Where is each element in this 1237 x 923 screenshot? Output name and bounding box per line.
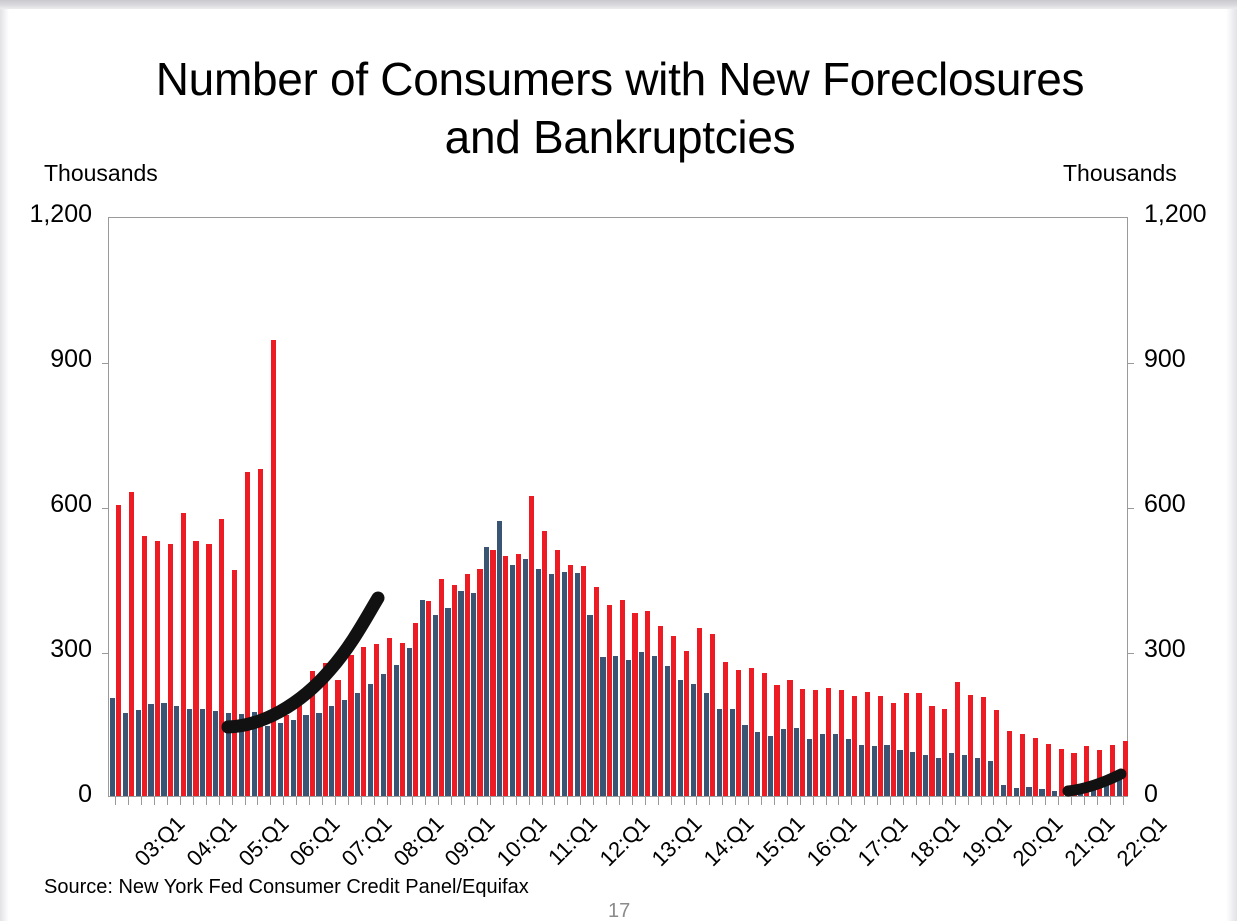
bar-group[interactable] <box>638 218 651 796</box>
bar-bankruptcies <box>774 685 779 796</box>
bar-group[interactable] <box>587 218 600 796</box>
x-axis-tick <box>671 796 672 805</box>
bar-foreclosures <box>665 666 670 796</box>
x-axis-tick <box>554 796 555 805</box>
bar-bankruptcies <box>1123 741 1128 796</box>
bar-foreclosures <box>433 615 438 796</box>
bar-foreclosures <box>252 712 257 796</box>
x-axis-label: 20:Q1 <box>1008 811 1069 872</box>
bar-foreclosures <box>484 547 489 796</box>
chart-title-line2: and Bankruptcies <box>60 108 1180 166</box>
bar-group[interactable] <box>238 218 251 796</box>
bar-group[interactable] <box>561 218 574 796</box>
x-axis-tick <box>219 796 220 805</box>
bar-group[interactable] <box>1064 218 1077 796</box>
bar-foreclosures <box>445 608 450 797</box>
slide-right-edge <box>1226 9 1237 921</box>
bar-bankruptcies <box>452 585 457 796</box>
bar-bankruptcies <box>1007 731 1012 796</box>
bar-bankruptcies <box>232 570 237 796</box>
x-axis-tick <box>387 796 388 805</box>
bar-group[interactable] <box>729 218 742 796</box>
x-axis-tick <box>942 796 943 805</box>
bar-bankruptcies <box>374 644 379 796</box>
bar-group[interactable] <box>509 218 522 796</box>
bar-foreclosures <box>794 728 799 796</box>
bar-bankruptcies <box>310 671 315 796</box>
x-axis-label: 03:Q1 <box>130 811 191 872</box>
bar-foreclosures <box>471 593 476 796</box>
y-axis-tick-left <box>102 508 109 509</box>
bar-bankruptcies <box>1071 753 1076 797</box>
bar-group[interactable] <box>690 218 703 796</box>
bar-group[interactable] <box>1039 218 1052 796</box>
x-axis-tick <box>800 796 801 805</box>
x-axis-tick <box>1058 796 1059 805</box>
x-axis-tick <box>296 796 297 805</box>
bar-group[interactable] <box>716 218 729 796</box>
bar-bankruptcies <box>1097 750 1102 796</box>
y-axis-tick-right <box>1127 363 1134 364</box>
bar-group[interactable] <box>767 218 780 796</box>
bar-bankruptcies <box>323 663 328 796</box>
bar-group[interactable] <box>135 218 148 796</box>
bar-group[interactable] <box>380 218 393 796</box>
x-axis-label: 14:Q1 <box>698 811 759 872</box>
x-axis-tick <box>115 796 116 805</box>
bar-bankruptcies <box>284 715 289 796</box>
bar-group[interactable] <box>974 218 987 796</box>
bar-bankruptcies <box>697 628 702 796</box>
x-axis-label: 04:Q1 <box>182 811 243 872</box>
bar-foreclosures <box>846 739 851 796</box>
x-axis-tick <box>322 796 323 805</box>
bar-bankruptcies <box>168 544 173 796</box>
x-axis-label: 09:Q1 <box>440 811 501 872</box>
x-axis-tick <box>632 796 633 805</box>
x-axis-tick <box>516 796 517 805</box>
bar-group[interactable] <box>832 218 845 796</box>
x-axis-tick <box>335 796 336 805</box>
bar-foreclosures <box>600 657 605 796</box>
bar-bankruptcies <box>594 587 599 796</box>
x-axis-label: 08:Q1 <box>388 811 449 872</box>
bar-bankruptcies <box>620 600 625 796</box>
bar-bankruptcies <box>762 673 767 796</box>
bar-group[interactable] <box>406 218 419 796</box>
bar-foreclosures <box>575 573 580 796</box>
bar-bankruptcies <box>490 550 495 797</box>
bar-group[interactable] <box>1052 218 1065 796</box>
bar-bankruptcies <box>878 696 883 796</box>
x-axis-tick <box>761 796 762 805</box>
bar-group[interactable] <box>419 218 432 796</box>
bar-foreclosures <box>536 569 541 796</box>
bar-bankruptcies <box>994 710 999 796</box>
bar-foreclosures <box>381 674 386 796</box>
bar-group[interactable] <box>483 218 496 796</box>
bar-foreclosures <box>355 693 360 796</box>
bar-foreclosures <box>626 660 631 796</box>
bar-group[interactable] <box>445 218 458 796</box>
bar-bankruptcies <box>297 696 302 796</box>
bar-group[interactable] <box>186 218 199 796</box>
bar-group[interactable] <box>1000 218 1013 796</box>
x-axis-tick <box>1019 796 1020 805</box>
bar-foreclosures <box>807 739 812 796</box>
bar-foreclosures <box>910 752 915 796</box>
x-axis-label: 16:Q1 <box>801 811 862 872</box>
bar-bankruptcies <box>219 519 224 796</box>
x-axis-tick <box>709 796 710 805</box>
bar-foreclosures <box>174 706 179 796</box>
bar-bankruptcies <box>116 505 121 796</box>
x-axis-tick <box>735 796 736 805</box>
bar-group[interactable] <box>664 218 677 796</box>
bar-foreclosures <box>768 736 773 796</box>
bar-group[interactable] <box>819 218 832 796</box>
x-axis-label: 12:Q1 <box>595 811 656 872</box>
bar-group[interactable] <box>290 218 303 796</box>
bar-group[interactable] <box>703 218 716 796</box>
bar-group[interactable] <box>161 218 174 796</box>
bar-group[interactable] <box>148 218 161 796</box>
bar-foreclosures <box>859 745 864 796</box>
x-axis-tick <box>1071 796 1072 805</box>
bar-group[interactable] <box>948 218 961 796</box>
x-axis-tick <box>684 796 685 805</box>
x-axis-tick <box>1045 796 1046 805</box>
bar-group[interactable] <box>264 218 277 796</box>
bar-foreclosures <box>1014 788 1019 796</box>
y-axis-label-left: 0 <box>78 780 92 809</box>
bar-group[interactable] <box>625 218 638 796</box>
x-axis-tick <box>283 796 284 805</box>
bar-foreclosures <box>975 758 980 796</box>
bar-bankruptcies <box>181 513 186 796</box>
y-axis-tick-left <box>102 653 109 654</box>
y-axis-label-left: 600 <box>50 490 92 519</box>
x-axis-tick <box>206 796 207 805</box>
bar-group[interactable] <box>651 218 664 796</box>
x-axis-tick <box>503 796 504 805</box>
bar-group[interactable] <box>432 218 445 796</box>
bar-bankruptcies <box>749 668 754 796</box>
bar-group[interactable] <box>600 218 613 796</box>
bar-foreclosures <box>278 723 283 796</box>
bar-foreclosures <box>652 656 657 796</box>
bar-bankruptcies <box>335 680 340 796</box>
x-axis-tick <box>955 796 956 805</box>
bar-bankruptcies <box>1020 734 1025 796</box>
bar-group[interactable] <box>458 218 471 796</box>
bar-group[interactable] <box>354 218 367 796</box>
bar-foreclosures <box>200 709 205 796</box>
bar-group[interactable] <box>277 218 290 796</box>
x-axis-label: 21:Q1 <box>1060 811 1121 872</box>
bar-group[interactable] <box>174 218 187 796</box>
x-axis-label: 17:Q1 <box>853 811 914 872</box>
x-axis-tick <box>696 796 697 805</box>
bar-group[interactable] <box>496 218 509 796</box>
bar-group[interactable] <box>884 218 897 796</box>
x-axis-label: 15:Q1 <box>750 811 811 872</box>
bar-group[interactable] <box>780 218 793 796</box>
bar-foreclosures <box>639 652 644 796</box>
bar-group[interactable] <box>535 218 548 796</box>
bar-bankruptcies <box>348 655 353 796</box>
x-axis-tick <box>180 796 181 805</box>
bar-group[interactable] <box>845 218 858 796</box>
x-axis-tick <box>490 796 491 805</box>
chart-title: Number of Consumers with New Foreclosure… <box>60 50 1180 166</box>
bar-bankruptcies <box>955 682 960 796</box>
bar-group[interactable] <box>806 218 819 796</box>
y-axis-tick-right <box>1127 508 1134 509</box>
chart-title-line1: Number of Consumers with New Foreclosure… <box>60 50 1180 108</box>
bar-bankruptcies <box>723 662 728 796</box>
bar-foreclosures <box>226 713 231 796</box>
x-axis-tick <box>232 796 233 805</box>
bar-bankruptcies <box>826 688 831 796</box>
y-axis-label-left: 300 <box>50 635 92 664</box>
bar-foreclosures <box>316 713 321 796</box>
bar-group[interactable] <box>858 218 871 796</box>
bar-foreclosures <box>936 758 941 796</box>
x-axis-tick <box>580 796 581 805</box>
bar-foreclosures <box>342 700 347 796</box>
x-axis-tick <box>193 796 194 805</box>
bar-foreclosures <box>717 709 722 796</box>
bar-bankruptcies <box>787 680 792 796</box>
bar-group[interactable] <box>1090 218 1103 796</box>
bar-foreclosures <box>394 665 399 796</box>
bar-bankruptcies <box>865 692 870 796</box>
bar-bankruptcies <box>658 626 663 796</box>
bar-foreclosures <box>742 725 747 796</box>
bar-group[interactable] <box>316 218 329 796</box>
bar-bankruptcies <box>542 531 547 796</box>
bar-group[interactable] <box>755 218 768 796</box>
bar-foreclosures <box>704 693 709 796</box>
bar-foreclosures <box>755 732 760 796</box>
x-axis-tick <box>270 796 271 805</box>
x-axis-tick <box>877 796 878 805</box>
bar-group[interactable] <box>1013 218 1026 796</box>
bar-group[interactable] <box>109 218 122 796</box>
bar-group[interactable] <box>1077 218 1090 796</box>
x-axis-tick <box>167 796 168 805</box>
x-axis-tick <box>1084 796 1085 805</box>
bar-group[interactable] <box>793 218 806 796</box>
bar-group[interactable] <box>742 218 755 796</box>
bar-bankruptcies <box>981 697 986 796</box>
bar-group[interactable] <box>987 218 1000 796</box>
x-axis-tick <box>1006 796 1007 805</box>
bar-bankruptcies <box>400 643 405 796</box>
x-axis-tick <box>968 796 969 805</box>
x-axis-label: 22:Q1 <box>1111 811 1172 872</box>
plot-area <box>108 217 1128 797</box>
bar-foreclosures <box>213 711 218 796</box>
bar-bankruptcies <box>904 693 909 796</box>
bar-foreclosures <box>1052 791 1057 796</box>
bar-bankruptcies <box>258 469 263 796</box>
bar-bankruptcies <box>245 472 250 796</box>
bar-group[interactable] <box>393 218 406 796</box>
bar-foreclosures <box>1117 779 1122 796</box>
bar-foreclosures <box>897 750 902 796</box>
bar-foreclosures <box>329 706 334 796</box>
y-axis-label-right: 0 <box>1144 780 1158 809</box>
bar-group[interactable] <box>613 218 626 796</box>
x-axis-tick <box>748 796 749 805</box>
y-axis-tick-right <box>1127 653 1134 654</box>
x-axis-label: 13:Q1 <box>646 811 707 872</box>
bar-bankruptcies <box>129 492 134 796</box>
bar-foreclosures <box>872 746 877 796</box>
x-axis-tick <box>864 796 865 805</box>
x-axis-label: 19:Q1 <box>956 811 1017 872</box>
bar-series-container <box>109 218 1127 796</box>
bar-foreclosures <box>1065 791 1070 796</box>
y-axis-label-right: 1,200 <box>1144 200 1207 229</box>
x-axis-label: 10:Q1 <box>492 811 553 872</box>
bar-group[interactable] <box>574 218 587 796</box>
bar-foreclosures <box>458 591 463 796</box>
x-axis-tick <box>1123 796 1124 805</box>
bar-bankruptcies <box>142 536 147 796</box>
bar-group[interactable] <box>225 218 238 796</box>
bar-foreclosures <box>962 755 967 796</box>
bar-group[interactable] <box>122 218 135 796</box>
bar-group[interactable] <box>367 218 380 796</box>
right-axis-units: Thousands <box>1063 160 1177 187</box>
bar-group[interactable] <box>548 218 561 796</box>
bar-group[interactable] <box>471 218 484 796</box>
bar-group[interactable] <box>677 218 690 796</box>
bar-foreclosures <box>678 680 683 796</box>
bar-foreclosures <box>303 715 308 796</box>
bar-group[interactable] <box>251 218 264 796</box>
bar-bankruptcies <box>813 690 818 796</box>
bar-bankruptcies <box>361 647 366 796</box>
x-axis-tick <box>903 796 904 805</box>
bar-group[interactable] <box>1116 218 1129 796</box>
x-axis-tick <box>981 796 982 805</box>
bar-group[interactable] <box>910 218 923 796</box>
bar-foreclosures <box>613 656 618 796</box>
y-axis-label-right: 900 <box>1144 345 1186 374</box>
bar-foreclosures <box>368 684 373 796</box>
bar-foreclosures <box>239 714 244 796</box>
bar-bankruptcies <box>1110 745 1115 796</box>
x-axis-tick <box>851 796 852 805</box>
bar-bankruptcies <box>839 690 844 796</box>
bar-foreclosures <box>187 709 192 796</box>
x-axis-tick <box>425 796 426 805</box>
bar-bankruptcies <box>671 636 676 796</box>
bar-bankruptcies <box>942 709 947 796</box>
x-axis-tick <box>1032 796 1033 805</box>
left-axis-units: Thousands <box>44 160 158 187</box>
bar-bankruptcies <box>1046 744 1051 796</box>
bar-foreclosures <box>123 713 128 796</box>
bar-bankruptcies <box>916 693 921 796</box>
bar-bankruptcies <box>413 623 418 796</box>
x-axis-tick <box>813 796 814 805</box>
bar-foreclosures <box>884 745 889 796</box>
bar-bankruptcies <box>155 541 160 796</box>
bar-group[interactable] <box>522 218 535 796</box>
bar-bankruptcies <box>477 569 482 796</box>
bar-group[interactable] <box>1026 218 1039 796</box>
bar-group[interactable] <box>897 218 910 796</box>
bar-bankruptcies <box>206 544 211 796</box>
bar-foreclosures <box>148 704 153 796</box>
y-axis-label-left: 900 <box>50 345 92 374</box>
x-axis-tick <box>400 796 401 805</box>
y-axis-tick-left <box>102 363 109 364</box>
bar-foreclosures <box>265 726 270 796</box>
bar-bankruptcies <box>581 566 586 796</box>
bar-group[interactable] <box>303 218 316 796</box>
x-axis-tick <box>141 796 142 805</box>
bar-group[interactable] <box>328 218 341 796</box>
x-axis-tick <box>1097 796 1098 805</box>
bar-foreclosures <box>407 648 412 796</box>
y-axis-label-right: 300 <box>1144 635 1186 664</box>
x-axis-tick <box>838 796 839 805</box>
x-axis-label: 06:Q1 <box>285 811 346 872</box>
bar-foreclosures <box>161 703 166 796</box>
page-number: 17 <box>608 900 630 923</box>
bar-foreclosures <box>923 755 928 796</box>
bar-bankruptcies <box>1033 738 1038 796</box>
bar-foreclosures <box>1001 785 1006 796</box>
bar-foreclosures <box>691 684 696 796</box>
bar-bankruptcies <box>929 706 934 796</box>
bar-group[interactable] <box>199 218 212 796</box>
bar-group[interactable] <box>871 218 884 796</box>
x-axis-tick <box>412 796 413 805</box>
bar-group[interactable] <box>1103 218 1116 796</box>
slide-left-edge <box>0 9 9 921</box>
bar-bankruptcies <box>1059 749 1064 796</box>
x-axis-tick <box>929 796 930 805</box>
x-axis-label: 05:Q1 <box>233 811 294 872</box>
bar-foreclosures <box>1078 789 1083 796</box>
bar-foreclosures <box>523 559 528 796</box>
bar-foreclosures <box>291 720 296 796</box>
x-axis-tick <box>257 796 258 805</box>
bar-foreclosures <box>497 521 502 797</box>
bar-group[interactable] <box>961 218 974 796</box>
bar-group[interactable] <box>212 218 225 796</box>
x-axis-tick <box>619 796 620 805</box>
bar-group[interactable] <box>922 218 935 796</box>
bar-bankruptcies <box>426 601 431 796</box>
bar-bankruptcies <box>516 554 521 796</box>
x-axis-tick <box>593 796 594 805</box>
bar-group[interactable] <box>935 218 948 796</box>
bar-bankruptcies <box>193 541 198 796</box>
bar-group[interactable] <box>341 218 354 796</box>
x-axis-tick <box>348 796 349 805</box>
x-axis-tick <box>542 796 543 805</box>
bar-foreclosures <box>988 761 993 796</box>
bar-bankruptcies <box>439 579 444 797</box>
